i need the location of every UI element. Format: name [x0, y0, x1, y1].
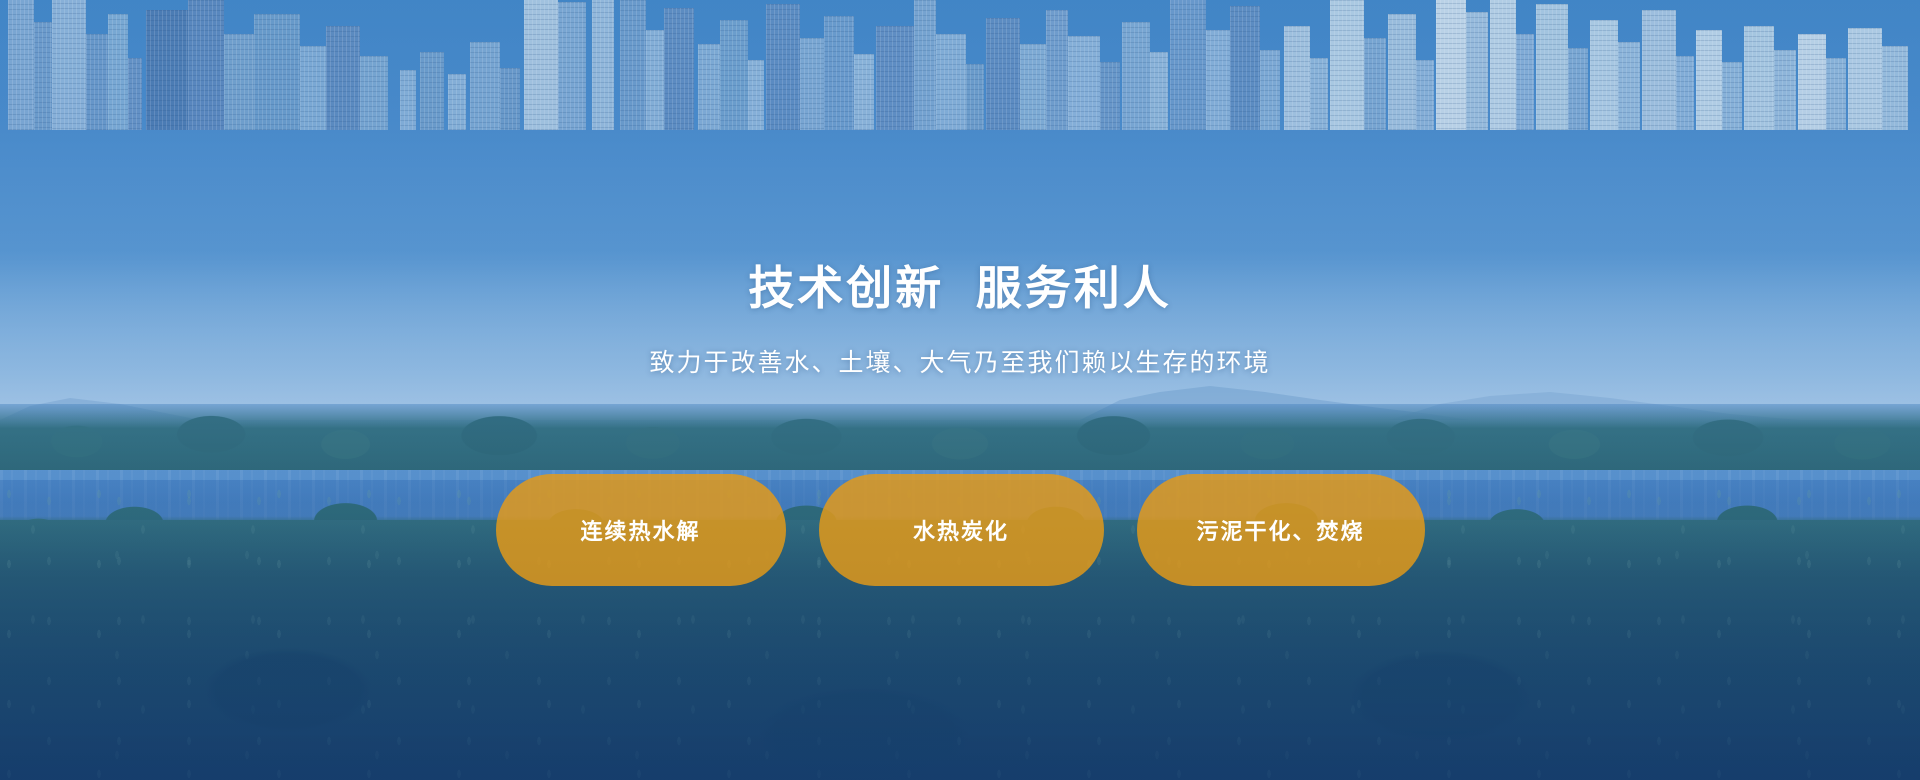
- hero-button-continuous-thermal-hydrolysis[interactable]: 连续热水解: [496, 474, 786, 586]
- hero-subheadline: 致力于改善水、土壤、大气乃至我们赖以生存的环境: [0, 348, 1920, 378]
- hero-button-group: 连续热水解 水热炭化 污泥干化、焚烧: [0, 474, 1920, 586]
- hero-button-sludge-drying-incineration[interactable]: 污泥干化、焚烧: [1137, 474, 1425, 586]
- hero-banner: 技术创新 服务利人 致力于改善水、土壤、大气乃至我们赖以生存的环境 连续热水解 …: [0, 0, 1920, 780]
- hero-button-hydrothermal-carbonization[interactable]: 水热炭化: [819, 474, 1104, 586]
- hero-content: 技术创新 服务利人 致力于改善水、土壤、大气乃至我们赖以生存的环境 连续热水解 …: [0, 0, 1920, 780]
- hero-headline: 技术创新 服务利人: [0, 263, 1920, 314]
